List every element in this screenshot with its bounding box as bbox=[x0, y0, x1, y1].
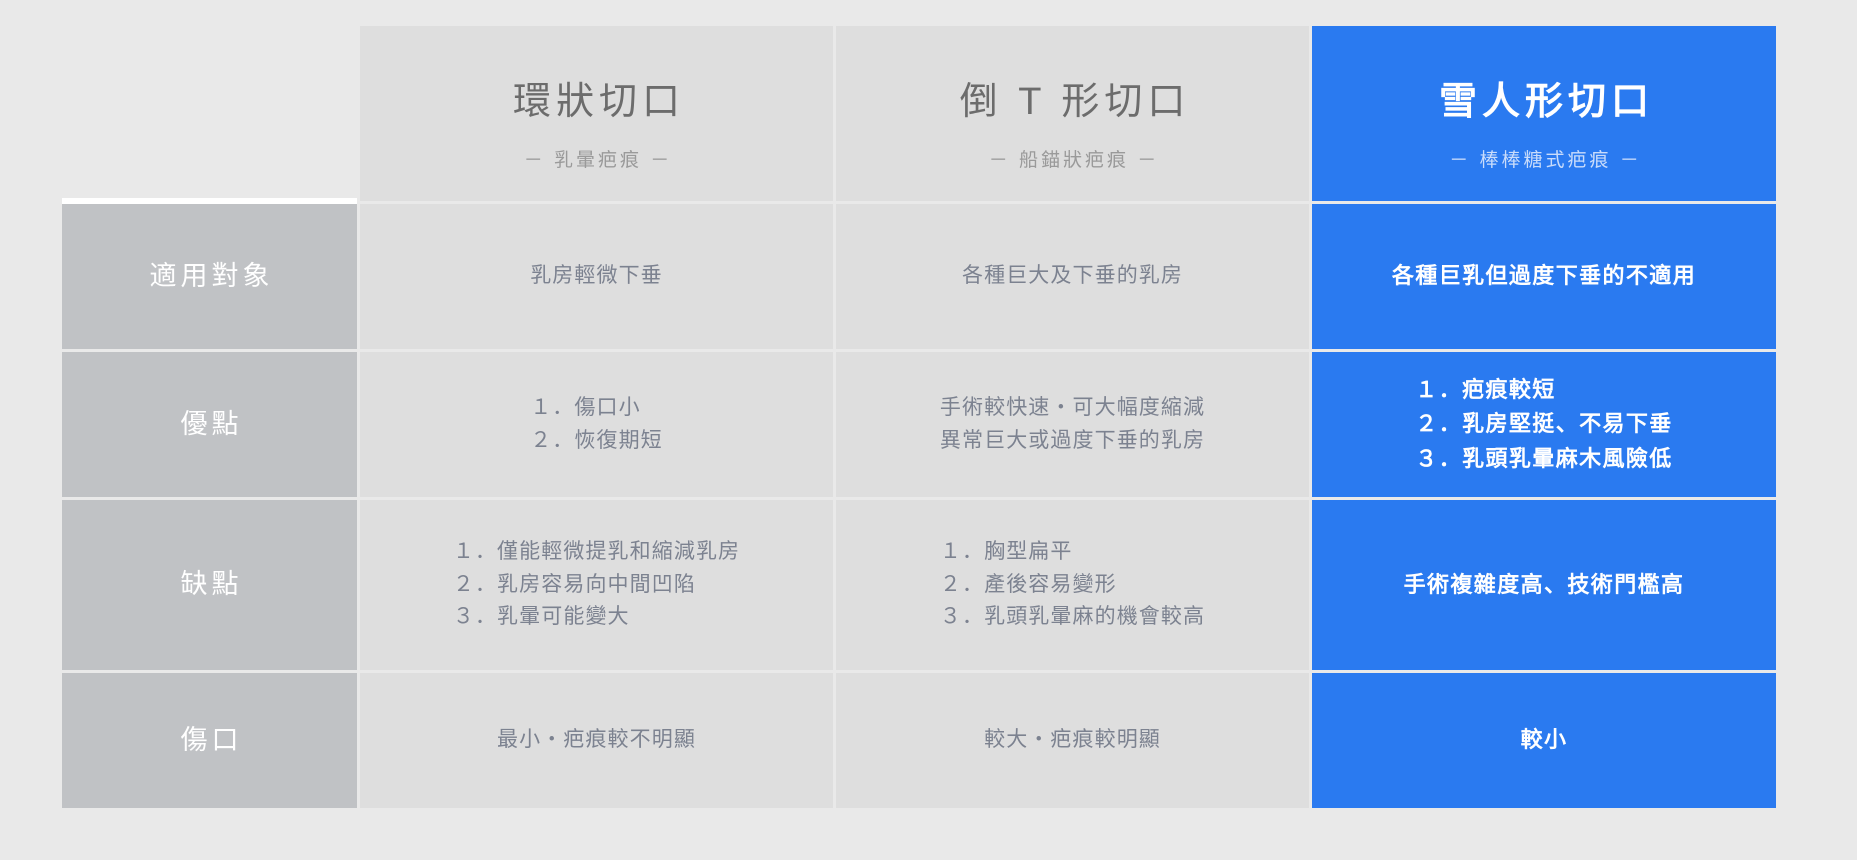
cell-line: 手術複雜度高、技術門檻高 bbox=[1404, 568, 1685, 602]
cell-lines: １．疤痕較短２．乳房堅挺、不易下垂３．乳頭乳暈麻木風險低 bbox=[1415, 373, 1672, 475]
column-title-3: 雪人形切口 bbox=[1434, 73, 1654, 132]
column-header-3: 雪人形切口 － 棒棒糖式疤痕 － bbox=[1312, 26, 1776, 201]
cell-lines: 各種巨大及下垂的乳房 bbox=[962, 260, 1183, 293]
cell-line: 手術較快速・可大幅度縮減 bbox=[940, 392, 1205, 425]
cell-line: 最小・疤痕較不明顯 bbox=[497, 724, 696, 757]
column-subtitle-3: － 棒棒糖式疤痕 － bbox=[1446, 146, 1642, 175]
row-header-2: 優點 bbox=[62, 352, 357, 497]
cell-lines: 各種巨乳但過度下垂的不適用 bbox=[1392, 259, 1696, 293]
cell-lines: １．胸型扁平２．產後容易變形３．乳頭乳暈麻的機會較高 bbox=[940, 536, 1205, 634]
cell-line: １．傷口小 bbox=[530, 392, 641, 425]
cell-lines: 手術較快速・可大幅度縮減異常巨大或過度下垂的乳房 bbox=[940, 392, 1205, 457]
comparison-table-page: 環狀切口 － 乳暈疤痕 － 倒 T 形切口 － 船錨狀疤痕 － 雪人形切口 － … bbox=[0, 0, 1857, 860]
cell-r3c2: １．胸型扁平２．產後容易變形３．乳頭乳暈麻的機會較高 bbox=[836, 500, 1309, 670]
column-subtitle-2: － 船錨狀疤痕 － bbox=[986, 146, 1160, 175]
cell-r2c1: １．傷口小２．恢復期短 bbox=[360, 352, 833, 497]
cell-line: 較小 bbox=[1521, 723, 1568, 757]
cell-r2c2: 手術較快速・可大幅度縮減異常巨大或過度下垂的乳房 bbox=[836, 352, 1309, 497]
column-title-2: 倒 T 形切口 bbox=[955, 73, 1191, 132]
cell-r2c3: １．疤痕較短２．乳房堅挺、不易下垂３．乳頭乳暈麻木風險低 bbox=[1312, 352, 1776, 497]
cell-line: ２．乳房堅挺、不易下垂 bbox=[1415, 407, 1672, 441]
cell-lines: １．傷口小２．恢復期短 bbox=[530, 392, 663, 457]
cell-r4c2: 較大・疤痕較明顯 bbox=[836, 673, 1309, 808]
cell-line: １．疤痕較短 bbox=[1415, 373, 1555, 407]
cell-r3c3: 手術複雜度高、技術門檻高 bbox=[1312, 500, 1776, 670]
cell-r4c1: 最小・疤痕較不明顯 bbox=[360, 673, 833, 808]
header-separator bbox=[62, 198, 357, 204]
cell-line: 各種巨大及下垂的乳房 bbox=[962, 260, 1183, 293]
cell-line: ２．乳房容易向中間凹陷 bbox=[453, 569, 696, 602]
surgery-comparison-table: 環狀切口 － 乳暈疤痕 － 倒 T 形切口 － 船錨狀疤痕 － 雪人形切口 － … bbox=[62, 26, 1767, 796]
cell-line: 各種巨乳但過度下垂的不適用 bbox=[1392, 259, 1696, 293]
row-header-3: 缺點 bbox=[62, 500, 357, 670]
cell-line: 較大・疤痕較明顯 bbox=[984, 724, 1161, 757]
cell-lines: 最小・疤痕較不明顯 bbox=[497, 724, 696, 757]
cell-r1c1: 乳房輕微下垂 bbox=[360, 204, 833, 349]
cell-line: ２．恢復期短 bbox=[530, 425, 663, 458]
column-header-2: 倒 T 形切口 － 船錨狀疤痕 － bbox=[836, 26, 1309, 201]
cell-line: ２．產後容易變形 bbox=[940, 569, 1117, 602]
column-subtitle-1: － 乳暈疤痕 － bbox=[521, 146, 673, 175]
cell-line: ３．乳頭乳暈麻木風險低 bbox=[1415, 442, 1672, 476]
cell-lines: 乳房輕微下垂 bbox=[530, 260, 663, 293]
row-header-1: 適用對象 bbox=[62, 204, 357, 349]
cell-line: ３．乳暈可能變大 bbox=[453, 601, 630, 634]
cell-r1c2: 各種巨大及下垂的乳房 bbox=[836, 204, 1309, 349]
cell-lines: 較小 bbox=[1521, 723, 1568, 757]
cell-line: 乳房輕微下垂 bbox=[530, 260, 663, 293]
cell-r4c3: 較小 bbox=[1312, 673, 1776, 808]
cell-lines: １．僅能輕微提乳和縮減乳房２．乳房容易向中間凹陷３．乳暈可能變大 bbox=[453, 536, 740, 634]
cell-line: １．胸型扁平 bbox=[940, 536, 1073, 569]
cell-r1c3: 各種巨乳但過度下垂的不適用 bbox=[1312, 204, 1776, 349]
cell-line: ３．乳頭乳暈麻的機會較高 bbox=[940, 601, 1205, 634]
cell-r3c1: １．僅能輕微提乳和縮減乳房２．乳房容易向中間凹陷３．乳暈可能變大 bbox=[360, 500, 833, 670]
column-header-1: 環狀切口 － 乳暈疤痕 － bbox=[360, 26, 833, 201]
row-header-4: 傷口 bbox=[62, 673, 357, 808]
table-corner-cell bbox=[62, 26, 357, 201]
cell-lines: 較大・疤痕較明顯 bbox=[984, 724, 1161, 757]
column-title-1: 環狀切口 bbox=[508, 73, 685, 132]
cell-lines: 手術複雜度高、技術門檻高 bbox=[1404, 568, 1685, 602]
cell-line: １．僅能輕微提乳和縮減乳房 bbox=[453, 536, 740, 569]
cell-line: 異常巨大或過度下垂的乳房 bbox=[940, 425, 1205, 458]
